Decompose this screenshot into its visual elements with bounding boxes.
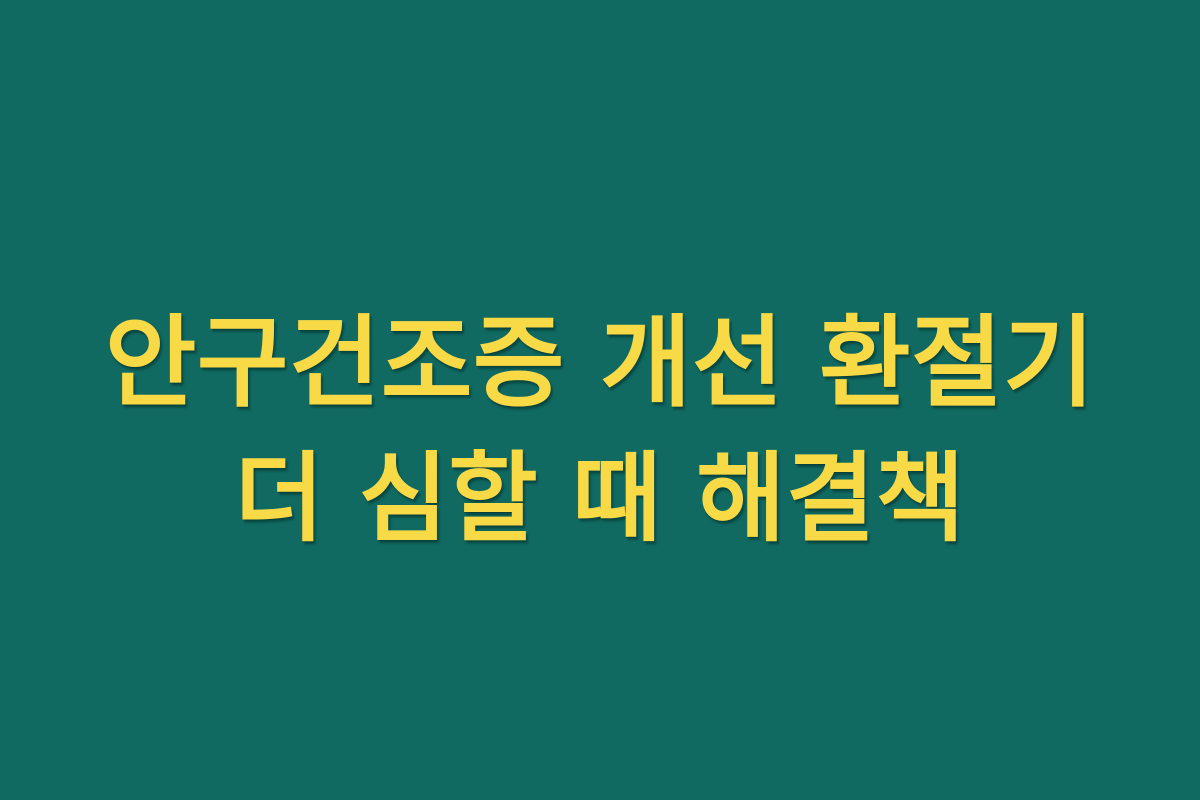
title-card: 안구건조증 개선 환절기 더 심할 때 해결책: [0, 0, 1200, 800]
title-line-1: 안구건조증 개선 환절기: [105, 296, 1095, 431]
title-block: 안구건조증 개선 환절기 더 심할 때 해결책: [0, 296, 1200, 566]
title-line-2: 더 심할 때 해결책: [235, 431, 965, 566]
